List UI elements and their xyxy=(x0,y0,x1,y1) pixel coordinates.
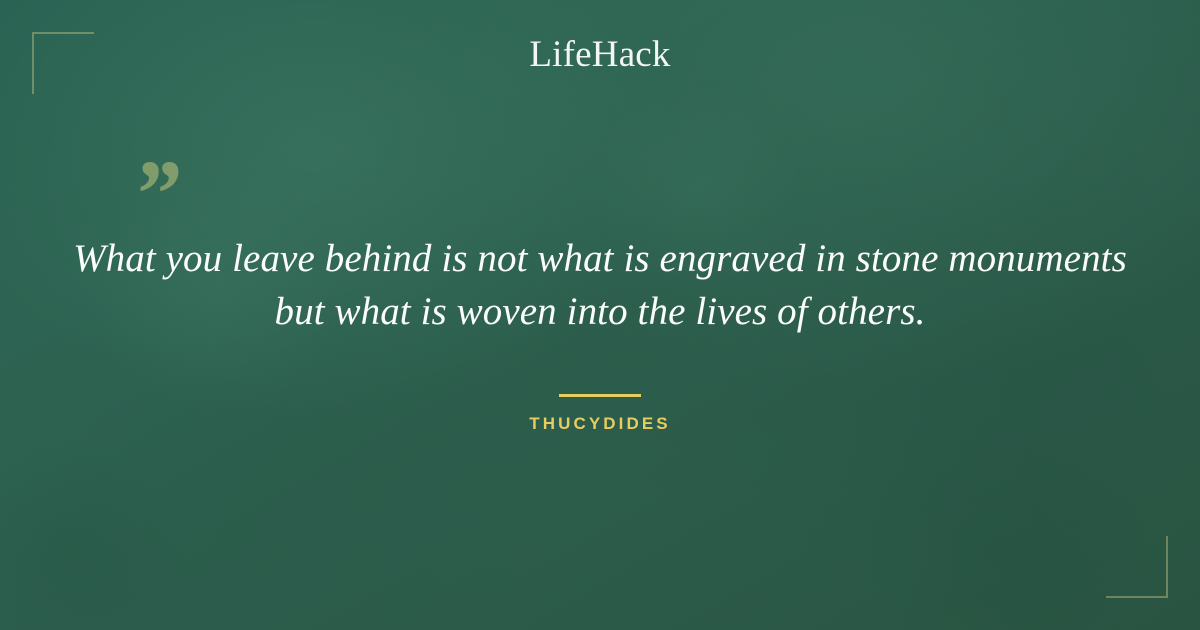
attribution: THUCYDIDES xyxy=(0,414,1200,434)
quote-block: What you leave behind is not what is eng… xyxy=(0,232,1200,338)
quotation-mark-icon: ” xyxy=(132,146,180,242)
quote-card: LifeHack ” What you leave behind is not … xyxy=(0,0,1200,630)
corner-bracket-bottom-right-icon xyxy=(1106,536,1168,598)
divider-rule xyxy=(559,394,641,397)
quote-text: What you leave behind is not what is eng… xyxy=(72,232,1128,338)
attribution-author: THUCYDIDES xyxy=(529,414,671,434)
brand-logo-text: LifeHack xyxy=(529,36,670,73)
brand-logo: LifeHack xyxy=(0,36,1200,73)
divider xyxy=(0,384,1200,402)
